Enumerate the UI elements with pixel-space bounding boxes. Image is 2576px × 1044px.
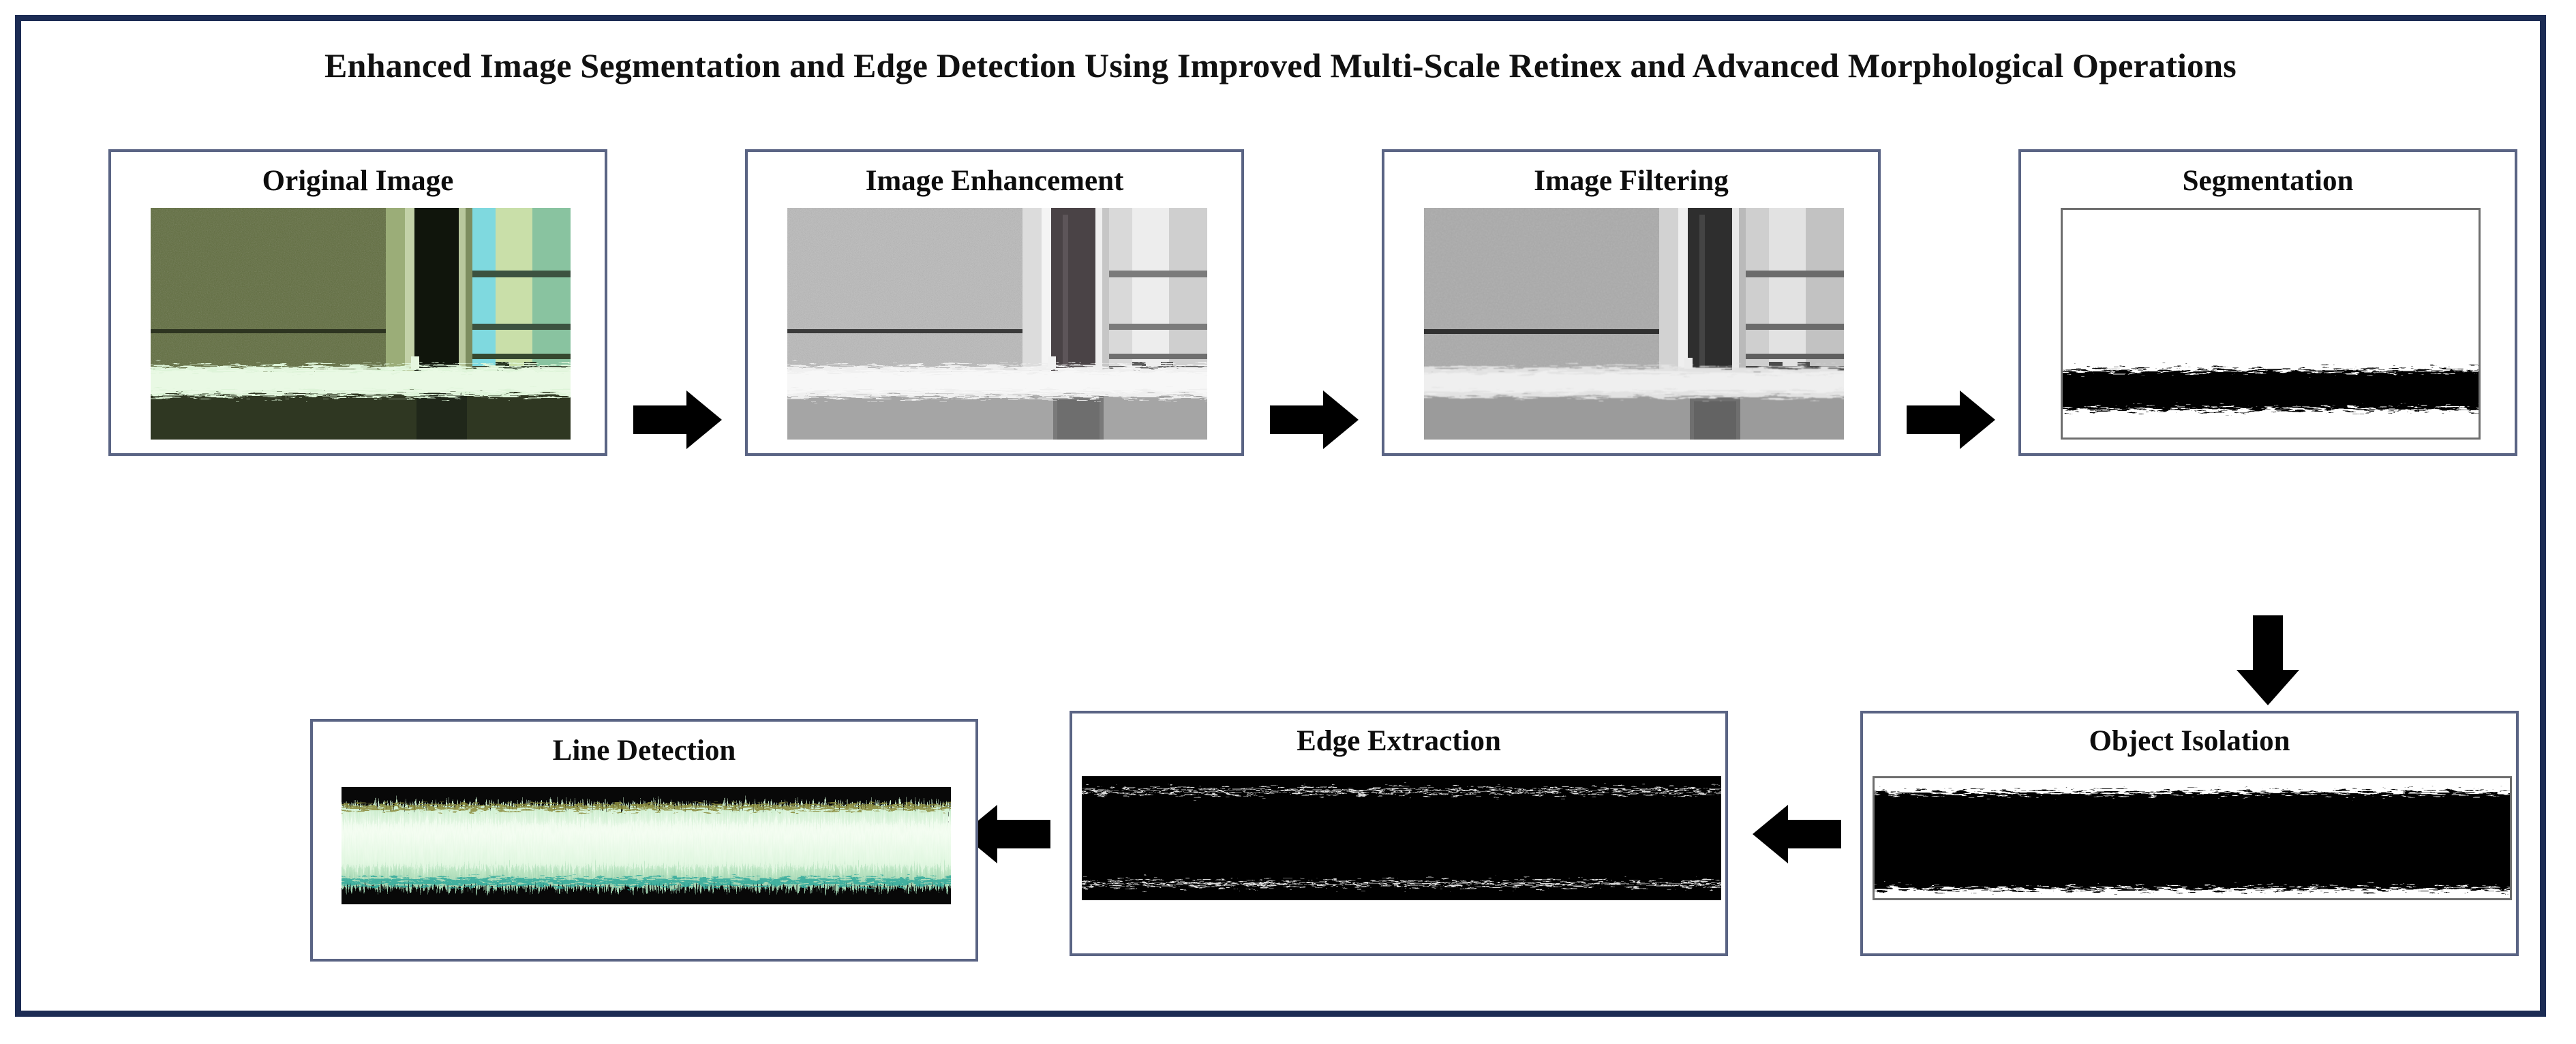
arrow-right-2 (1270, 389, 1359, 450)
figure-frame: Enhanced Image Segmentation and Edge Det… (15, 15, 2546, 1017)
image-line-detection (342, 787, 951, 904)
image-image-enhancement (787, 208, 1207, 440)
arrow-right-1 (633, 389, 722, 450)
arrow-down-4 (2235, 615, 2301, 705)
image-image-filtering (1424, 208, 1844, 440)
panel-object-isolation: Object Isolation (1860, 711, 2519, 956)
panel-title-original-image: Original Image (111, 164, 605, 198)
panel-title-line-detection: Line Detection (313, 734, 975, 767)
image-object-isolation (1873, 776, 2512, 900)
panel-title-segmentation: Segmentation (2021, 164, 2515, 198)
panel-edge-extraction: Edge Extraction (1070, 711, 1728, 956)
panel-original-image: Original Image (108, 149, 607, 456)
panel-line-detection: Line Detection (310, 719, 978, 962)
arrow-right-3 (1907, 389, 1995, 450)
image-segmentation (2061, 208, 2481, 440)
panel-image-filtering: Image Filtering (1382, 149, 1881, 456)
figure-title: Enhanced Image Segmentation and Edge Det… (21, 46, 2540, 85)
arrow-left-5 (1753, 803, 1841, 865)
panel-segmentation: Segmentation (2018, 149, 2517, 456)
image-edge-extraction (1082, 776, 1721, 900)
panel-title-edge-extraction: Edge Extraction (1072, 724, 1725, 758)
panel-title-object-isolation: Object Isolation (1863, 724, 2516, 758)
panel-image-enhancement: Image Enhancement (745, 149, 1244, 456)
panel-title-image-filtering: Image Filtering (1384, 164, 1878, 198)
image-original-image (151, 208, 571, 440)
panel-title-image-enhancement: Image Enhancement (748, 164, 1241, 198)
